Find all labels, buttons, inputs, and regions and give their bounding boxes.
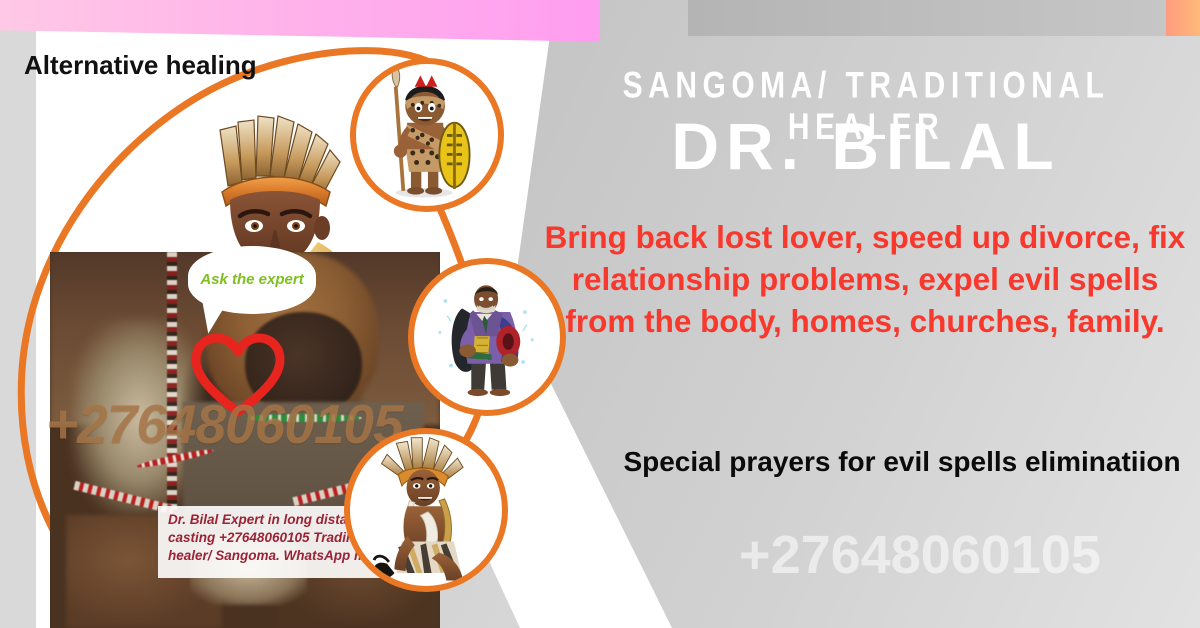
page-title-alternative-healing: Alternative healing bbox=[24, 50, 257, 81]
top-bar-pink bbox=[0, 0, 600, 42]
speech-bubble-text: Ask the expert bbox=[200, 270, 303, 289]
photo-hanging-beads bbox=[167, 252, 177, 515]
ghost-phone-number: +27648060105 bbox=[640, 524, 1200, 586]
caption-line-3: healer/ Sangoma. WhatsApp m bbox=[168, 547, 382, 565]
zulu-warrior-illustration bbox=[356, 64, 498, 206]
poster-canvas: Ask the expert +27648060105 Dr. Bilal Ex… bbox=[0, 0, 1200, 628]
speech-bubble: Ask the expert bbox=[188, 246, 316, 314]
top-bar-orange bbox=[1166, 0, 1200, 36]
headline-dr-bilal: DR. BILAL bbox=[556, 112, 1176, 181]
gray-strip-left-edge bbox=[0, 30, 36, 628]
robed-healer-illustration bbox=[414, 264, 560, 410]
crouching-traditional-dancer-illustration bbox=[350, 434, 502, 586]
special-prayers-text: Special prayers for evil spells eliminat… bbox=[612, 443, 1192, 481]
badge-crouching-dancer bbox=[344, 428, 508, 592]
services-text: Bring back lost lover, speed up divorce,… bbox=[540, 216, 1190, 343]
top-bar-gray bbox=[688, 0, 1168, 36]
badge-zulu-warrior bbox=[350, 58, 504, 212]
